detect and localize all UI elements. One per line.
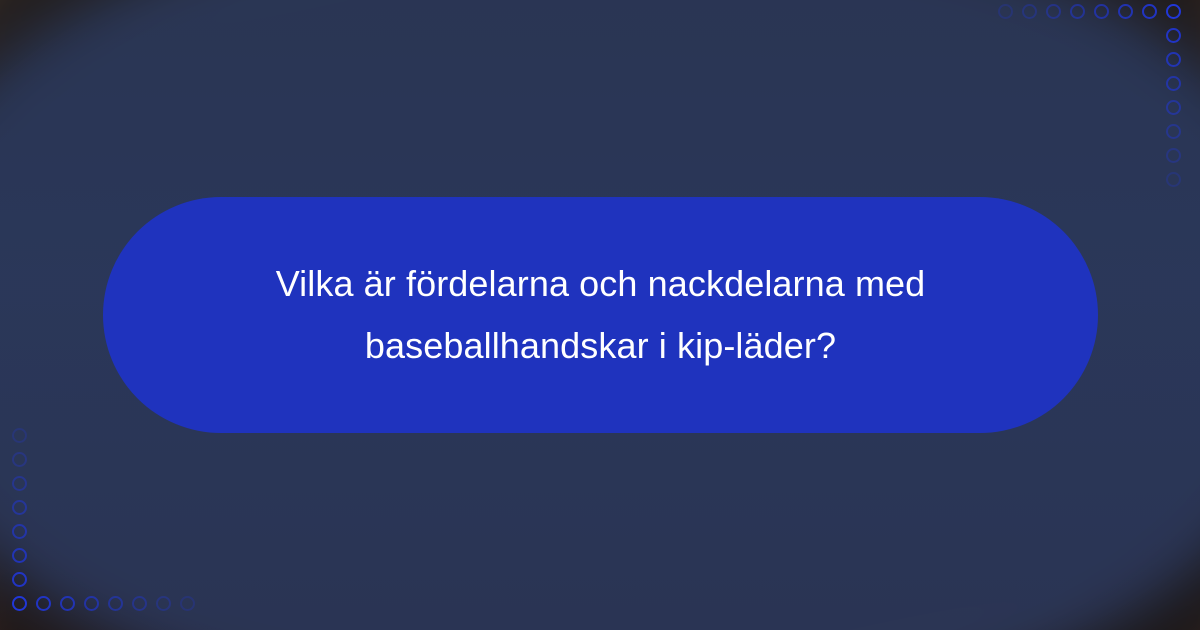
decorative-dot — [1070, 4, 1085, 19]
decorative-dot — [12, 428, 27, 443]
decorative-dot — [12, 452, 27, 467]
decorative-dot — [1166, 4, 1181, 19]
decorative-dot — [1166, 76, 1181, 91]
decorative-dot — [1094, 4, 1109, 19]
decorative-dot — [12, 572, 27, 587]
question-card-title: Vilka är fördelarna och nackdelarna med … — [221, 253, 981, 377]
question-card[interactable]: Vilka är fördelarna och nackdelarna med … — [103, 197, 1098, 433]
decorative-dot — [12, 548, 27, 563]
decorative-dot — [1166, 52, 1181, 67]
decorative-dot — [84, 596, 99, 611]
decorative-dot — [1166, 124, 1181, 139]
decorative-dot — [1166, 100, 1181, 115]
decorative-dot — [1142, 4, 1157, 19]
decorative-dot — [36, 596, 51, 611]
decorative-dot — [12, 476, 27, 491]
decorative-dot — [12, 596, 27, 611]
decorative-dot — [108, 596, 123, 611]
decorative-dot — [12, 524, 27, 539]
decorative-dot — [1022, 4, 1037, 19]
decorative-dot — [1166, 28, 1181, 43]
decorative-dot — [180, 596, 195, 611]
decorative-dot — [132, 596, 147, 611]
decorative-dot — [1118, 4, 1133, 19]
decorative-dot — [1046, 4, 1061, 19]
decorative-dot — [12, 500, 27, 515]
decorative-dot — [1166, 172, 1181, 187]
decorative-dot — [1166, 148, 1181, 163]
decorative-dot — [60, 596, 75, 611]
decorative-dot — [156, 596, 171, 611]
page-root: Vilka är fördelarna och nackdelarna med … — [0, 0, 1200, 630]
decorative-dot — [998, 4, 1013, 19]
